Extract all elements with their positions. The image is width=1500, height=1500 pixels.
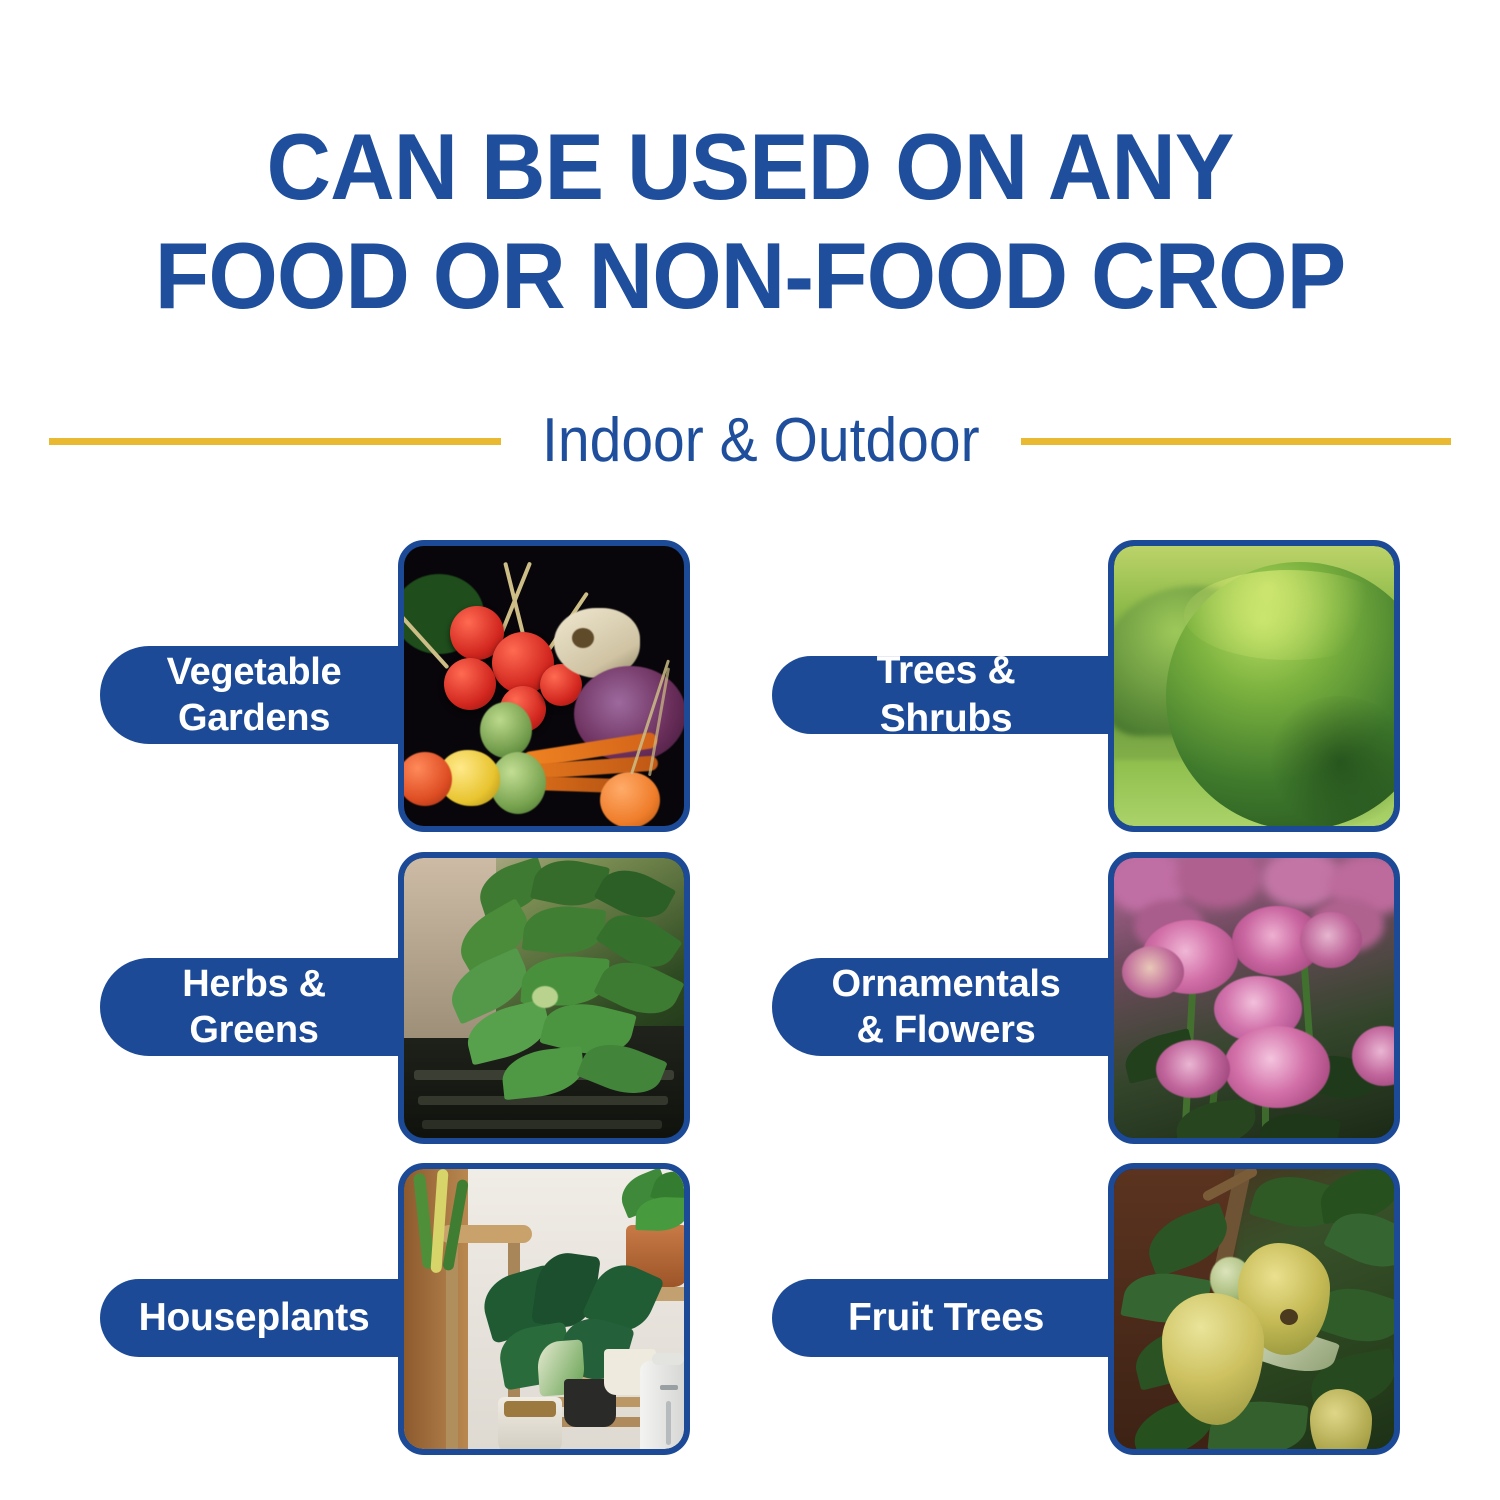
pears-on-tree-photo: [1114, 1169, 1394, 1449]
category-label-pill[interactable]: Fruit Trees: [772, 1279, 1112, 1357]
category-image-tile: [398, 540, 690, 832]
divider-rule-right: [1021, 438, 1451, 445]
vegetables-photo: [404, 546, 684, 826]
category-label-pill[interactable]: Trees & Shrubs: [772, 656, 1112, 734]
category-label: Herbs & Greens: [182, 961, 326, 1054]
category-image-tile: [398, 1163, 690, 1455]
promo-banner: CAN BE USED ON ANY FOOD OR NON-FOOD CROP…: [0, 0, 1500, 1500]
category-label: Fruit Trees: [848, 1294, 1044, 1342]
category-label-pill[interactable]: Houseplants: [100, 1279, 400, 1357]
category-card-fruit-trees[interactable]: Fruit Trees: [762, 1163, 1472, 1473]
category-card-trees-shrubs[interactable]: Trees & Shrubs: [762, 540, 1472, 850]
page-title: CAN BE USED ON ANY FOOD OR NON-FOOD CROP: [38, 112, 1463, 330]
category-grid: Vegetable Gardens: [0, 540, 1500, 1500]
page-subtitle: Indoor & Outdoor: [542, 410, 980, 472]
category-label: Trees & Shrubs: [806, 647, 1086, 742]
houseplants-photo: [404, 1169, 684, 1449]
category-label-pill[interactable]: Herbs & Greens: [100, 958, 400, 1056]
spinach-seedlings-photo: [404, 858, 684, 1138]
category-label-pill[interactable]: Ornamentals & Flowers: [772, 958, 1112, 1056]
category-label: Ornamentals & Flowers: [831, 961, 1060, 1054]
category-label: Houseplants: [139, 1294, 370, 1342]
category-card-vegetable-gardens[interactable]: Vegetable Gardens: [90, 540, 800, 850]
category-image-tile: [398, 852, 690, 1144]
category-card-ornamentals-flowers[interactable]: Ornamentals & Flowers: [762, 852, 1472, 1162]
category-card-herbs-greens[interactable]: Herbs & Greens: [90, 852, 800, 1162]
category-label: Vegetable Gardens: [167, 649, 342, 742]
subtitle-row: Indoor & Outdoor: [0, 396, 1500, 486]
category-image-tile: [1108, 1163, 1400, 1455]
boxwood-shrub-photo: [1114, 546, 1394, 826]
category-image-tile: [1108, 540, 1400, 832]
divider-rule-left: [49, 438, 501, 445]
category-image-tile: [1108, 852, 1400, 1144]
chrysanthemum-flowers-photo: [1114, 858, 1394, 1138]
category-card-houseplants[interactable]: Houseplants: [90, 1163, 800, 1473]
category-label-pill[interactable]: Vegetable Gardens: [100, 646, 400, 744]
